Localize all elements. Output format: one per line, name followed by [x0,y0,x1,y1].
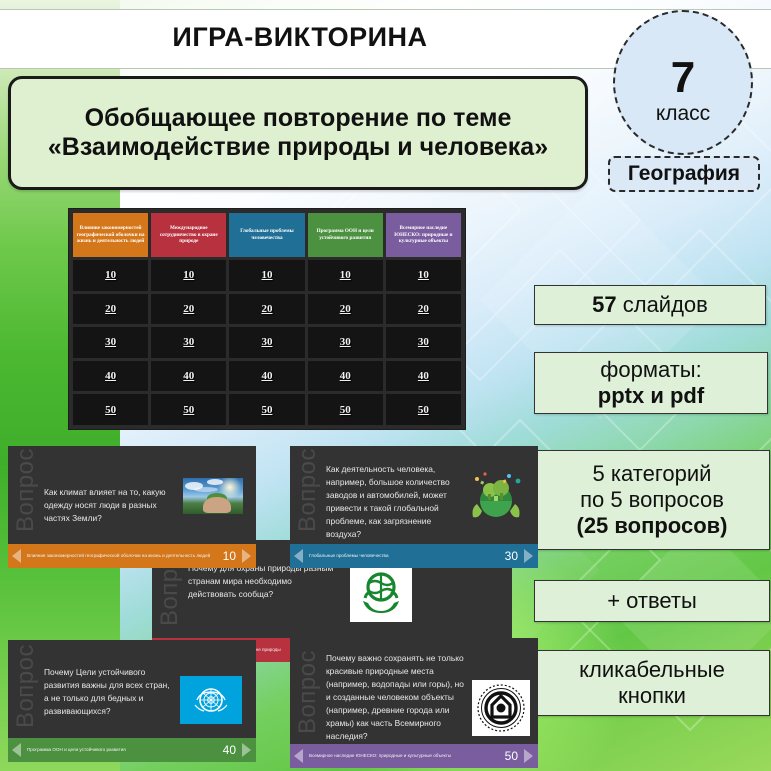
formats-text: форматы: pptx и pdf [598,357,704,409]
grade-badge: 7 класс [613,10,753,155]
slide-5-footer-category: Всемирное наследие ЮНЕСКО: природные и к… [303,753,505,759]
info-box-clickable-buttons: кликабельные кнопки [534,650,770,716]
next-arrow-icon[interactable] [242,549,251,563]
grade-number: 7 [671,57,695,99]
slide-thumbnail-4[interactable]: Вопрос Почему Цели устойчивого развития … [8,640,256,762]
prev-arrow-icon[interactable] [294,749,303,763]
category-header-1: Влияние закономерностей географической о… [73,213,148,257]
slide-thumbnail-2[interactable]: Вопрос Как деятельность человека, наприм… [290,446,538,568]
slide-5-question: Почему важно сохранять не только красивы… [326,652,466,743]
info-box-categories: 5 категорий по 5 вопросов (25 вопросов) [534,450,770,550]
categories-text: 5 категорий по 5 вопросов (25 вопросов) [577,461,728,539]
category-header-2: Международное сотрудничество в охране пр… [151,213,226,257]
prev-arrow-icon[interactable] [12,549,21,563]
prev-arrow-icon[interactable] [12,743,21,757]
info-box-formats: форматы: pptx и pdf [534,352,768,414]
categories-line-1: 5 категорий [577,461,728,487]
quiz-cell-c4-p40[interactable]: 40 [308,361,383,392]
prev-arrow-icon[interactable] [294,549,303,563]
quiz-cell-c1-p10[interactable]: 10 [73,260,148,291]
quiz-board-column-2: Международное сотрудничество в охране пр… [151,213,226,425]
quiz-cell-c3-p10[interactable]: 10 [229,260,304,291]
slide-2-question: Как деятельность человека, например, бол… [326,463,456,541]
slide-5-footer: Всемирное наследие ЮНЕСКО: природные и к… [290,744,538,768]
slide-2-footer-points: 30 [505,549,524,563]
info-box-slides-count: 57 слайдов [534,285,766,325]
quiz-cell-c3-p20[interactable]: 20 [229,294,304,325]
slide-4-side-label: Вопрос [12,644,40,728]
main-title-card: Обобщающее повторение по теме «Взаимодей… [8,76,588,190]
quiz-cell-c2-p10[interactable]: 10 [151,260,226,291]
quiz-cell-c3-p40[interactable]: 40 [229,361,304,392]
quiz-cell-c1-p30[interactable]: 30 [73,327,148,358]
sky-hands-photo [183,478,243,514]
quiz-board-column-5: Всемирное наследие ЮНЕСКО: природные и к… [386,213,461,425]
quiz-board-grid: Влияние закономерностей географической о… [73,213,461,425]
clickable-line-2: кнопки [579,683,725,709]
formats-line-1: форматы: [598,357,704,383]
slide-thumbnail-5[interactable]: Вопрос Почему важно сохранять не только … [290,638,538,768]
slide-2-footer: Глобальные проблемы человечества 30 [290,544,538,568]
clickable-line-1: кликабельные [579,657,725,683]
quiz-board-column-1: Влияние закономерностей географической о… [73,213,148,425]
formats-line-2: pptx и pdf [598,383,704,408]
quiz-cell-c4-p10[interactable]: 10 [308,260,383,291]
slide-1-question: Как климат влияет на то, какую одежду но… [44,486,174,525]
next-arrow-icon[interactable] [524,749,533,763]
earth-plants-glyph [465,468,527,526]
page-title: Обобщающее повторение по теме «Взаимодей… [11,104,585,163]
quiz-cell-c1-p20[interactable]: 20 [73,294,148,325]
hands-globe-glyph [355,568,407,618]
quiz-cell-c2-p40[interactable]: 40 [151,361,226,392]
quiz-cell-c2-p30[interactable]: 30 [151,327,226,358]
quiz-cell-c4-p30[interactable]: 30 [308,327,383,358]
quiz-cell-c2-p50[interactable]: 50 [151,394,226,425]
quiz-cell-c5-p10[interactable]: 10 [386,260,461,291]
slide-1-footer: Влияние закономерностей географической о… [8,544,256,568]
green-earth-illustration [465,468,527,526]
subject-label: География [628,162,740,186]
answers-text: + ответы [607,588,697,614]
quiz-cell-c5-p20[interactable]: 20 [386,294,461,325]
poster: ИГРА-ВИКТОРИНА Обобщающее повторение по … [0,0,771,771]
slide-1-footer-points: 10 [223,549,242,563]
slides-count-text: 57 слайдов [592,292,708,318]
slide-5-footer-points: 50 [505,749,524,763]
slide-1-side-label: Вопрос [12,448,40,532]
slides-count-word: слайдов [617,292,708,317]
subject-badge: География [608,156,760,192]
quiz-cell-c2-p20[interactable]: 20 [151,294,226,325]
next-arrow-icon[interactable] [524,549,533,563]
quiz-cell-c3-p30[interactable]: 30 [229,327,304,358]
unesco-emblem [472,680,530,736]
info-box-answers: + ответы [534,580,770,622]
category-header-5: Всемирное наследие ЮНЕСКО: природные и к… [386,213,461,257]
category-header-4: Программа ООН и цели устойчивого развити… [308,213,383,257]
quiz-board: Влияние закономерностей географической о… [68,208,466,430]
green-hands-globe-logo-icon [350,564,412,622]
categories-line-2: по 5 вопросов [577,487,728,513]
un-flag [180,676,242,724]
next-arrow-icon[interactable] [242,743,251,757]
quiz-cell-c5-p30[interactable]: 30 [386,327,461,358]
slides-count-number: 57 [592,292,616,317]
quiz-cell-c3-p50[interactable]: 50 [229,394,304,425]
slide-4-question: Почему Цели устойчивого развития важны д… [44,666,174,718]
quiz-cell-c1-p50[interactable]: 50 [73,394,148,425]
slide-1-footer-category: Влияние закономерностей географической о… [21,553,223,559]
quiz-cell-c5-p50[interactable]: 50 [386,394,461,425]
slide-thumbnail-1[interactable]: Вопрос Как климат влияет на то, какую од… [8,446,256,568]
slide-4-footer: Программа ООН и цели устойчивого развити… [8,738,256,762]
categories-line-3: (25 вопросов) [577,513,728,538]
slide-4-footer-category: Программа ООН и цели устойчивого развити… [21,747,223,753]
un-emblem-glyph [191,683,231,717]
quiz-board-column-4: Программа ООН и цели устойчивого развити… [308,213,383,425]
kicker-title: ИГРА-ВИКТОРИНА [0,22,600,53]
clickable-buttons-text: кликабельные кнопки [579,657,725,709]
slide-2-side-label: Вопрос [294,448,322,532]
category-header-3: Глобальные проблемы человечества [229,213,304,257]
unesco-heritage-glyph [475,682,527,734]
quiz-cell-c4-p20[interactable]: 20 [308,294,383,325]
quiz-cell-c5-p40[interactable]: 40 [386,361,461,392]
slide-2-footer-category: Глобальные проблемы человечества [303,553,505,559]
quiz-cell-c4-p50[interactable]: 50 [308,394,383,425]
quiz-cell-c1-p40[interactable]: 40 [73,361,148,392]
slide-4-footer-points: 40 [223,743,242,757]
grade-label: класс [656,102,710,126]
quiz-board-column-3: Глобальные проблемы человечества10203040… [229,213,304,425]
slide-5-side-label: Вопрос [294,650,322,734]
